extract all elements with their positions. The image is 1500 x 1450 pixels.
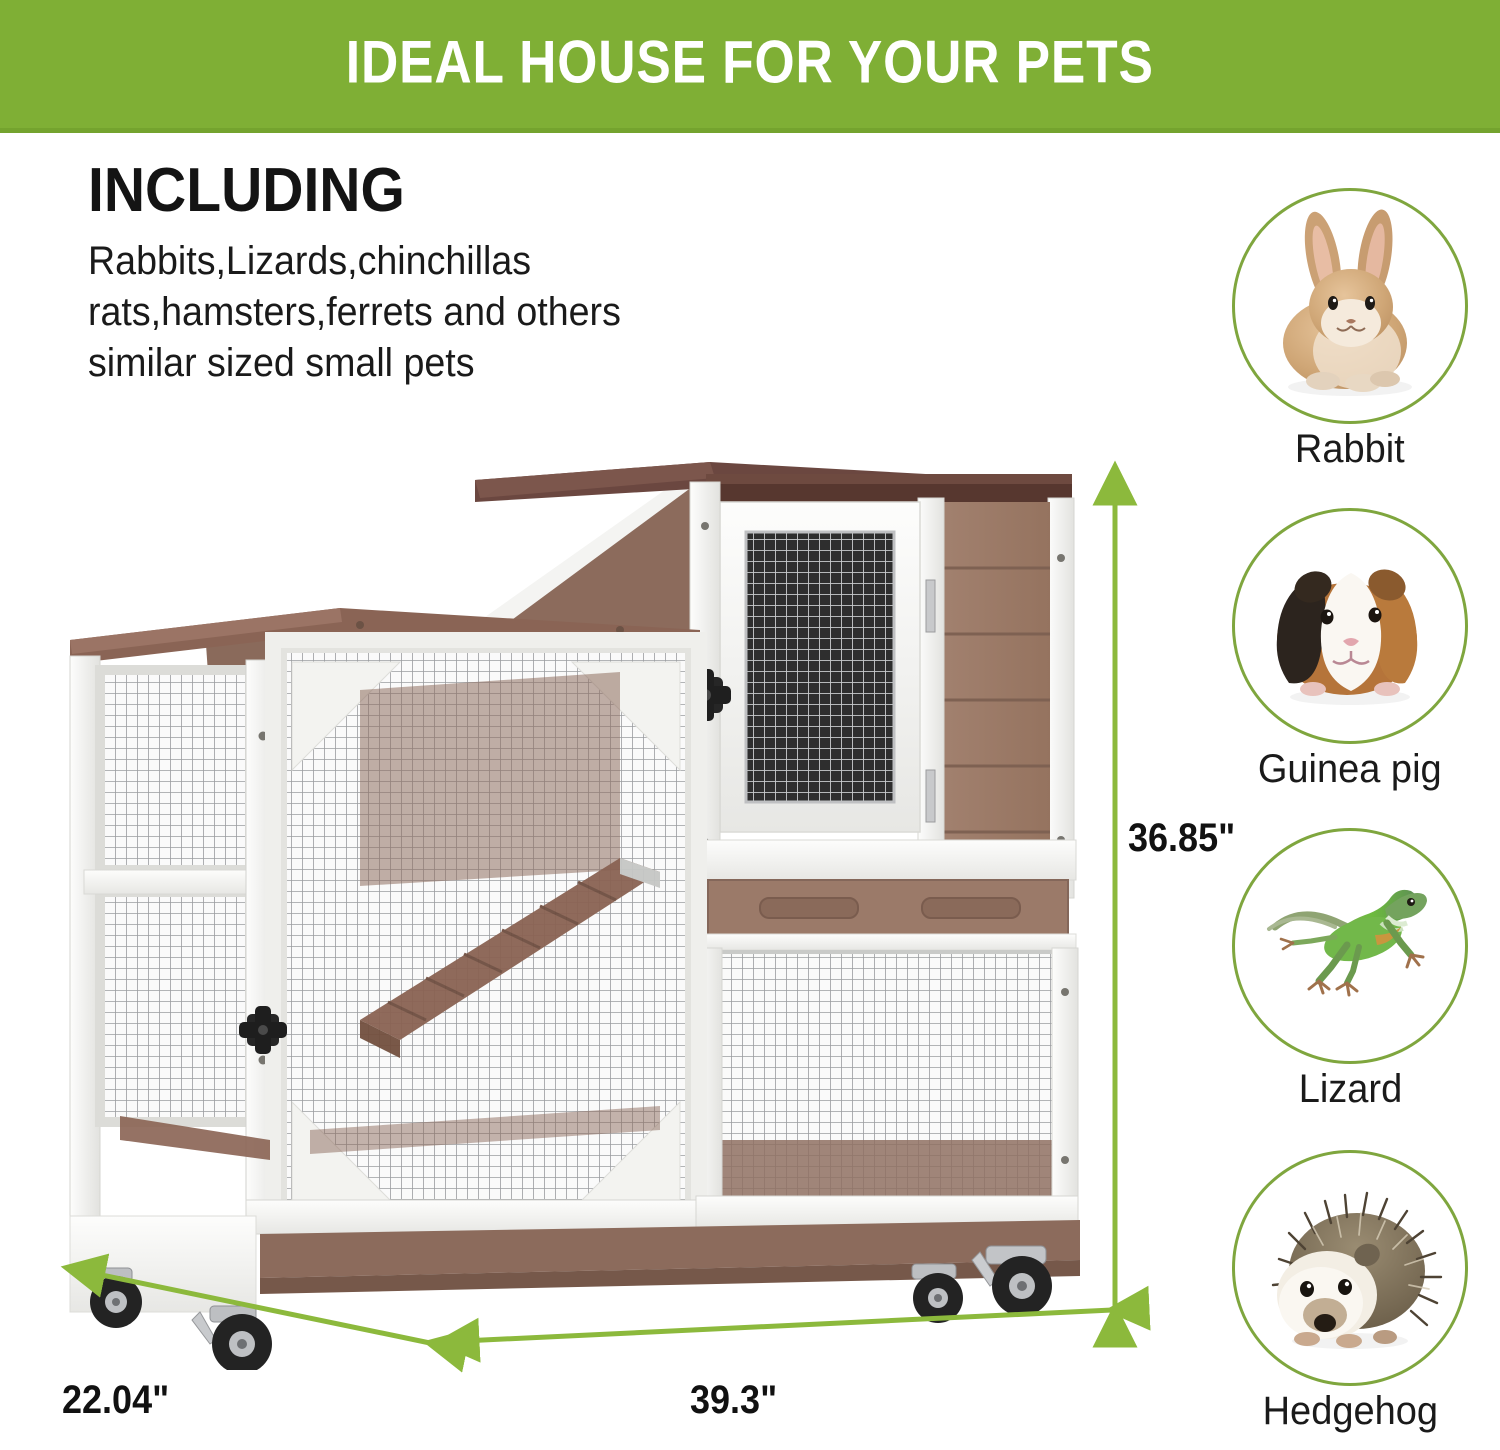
pet-circle-lizard: [1232, 828, 1468, 1064]
pull-out-tray: [696, 840, 1076, 950]
pet-label-lizard: Lizard: [1225, 1068, 1475, 1110]
page-title: IDEAL HOUSE FOR YOUR PETS: [0, 30, 1500, 99]
depth-dimension-label: 22.04": [62, 1378, 181, 1423]
header-banner: IDEAL HOUSE FOR YOUR PETS: [0, 0, 1500, 133]
lower-right-run: [696, 948, 1078, 1204]
pet-card-rabbit: Rabbit: [1225, 188, 1475, 470]
pet-card-lizard: Lizard: [1225, 828, 1475, 1110]
hutch-upper-mesh-door: [720, 502, 920, 832]
product-illustration: [60, 440, 1130, 1370]
pet-card-hedgehog: Hedgehog: [1225, 1150, 1475, 1432]
including-section: INCLUDING Rabbits,Lizards,chinchillas ra…: [88, 160, 788, 390]
pet-circle-rabbit: [1232, 188, 1468, 424]
banner-title-text: IDEAL HOUSE FOR YOUR PETS: [346, 28, 1154, 97]
rabbit-photo-icon: [1235, 191, 1465, 421]
guinea-pig-photo-icon: [1235, 511, 1465, 741]
pet-circle-guinea-pig: [1232, 508, 1468, 744]
left-run-body: [70, 640, 699, 1232]
caster-front-left: [192, 1306, 272, 1370]
hedgehog-photo-icon: [1235, 1153, 1465, 1383]
including-line-3: similar sized small pets: [88, 338, 788, 389]
including-line-1: Rabbits,Lizards,chinchillas: [88, 236, 788, 287]
pet-card-guinea-pig: Guinea pig: [1225, 508, 1475, 790]
pet-circle-hedgehog: [1232, 1150, 1468, 1386]
hutch-upper-body: [679, 482, 1074, 898]
caster-front-right: [912, 1264, 963, 1323]
including-line-2: rats,hamsters,ferrets and others: [88, 287, 788, 338]
width-dimension-label: 39.3": [690, 1378, 787, 1423]
lizard-photo-icon: [1235, 831, 1465, 1061]
including-heading: INCLUDING: [88, 160, 788, 222]
pet-label-rabbit: Rabbit: [1225, 428, 1475, 470]
pet-label-guinea-pig: Guinea pig: [1225, 748, 1475, 790]
pet-label-hedgehog: Hedgehog: [1225, 1390, 1475, 1432]
